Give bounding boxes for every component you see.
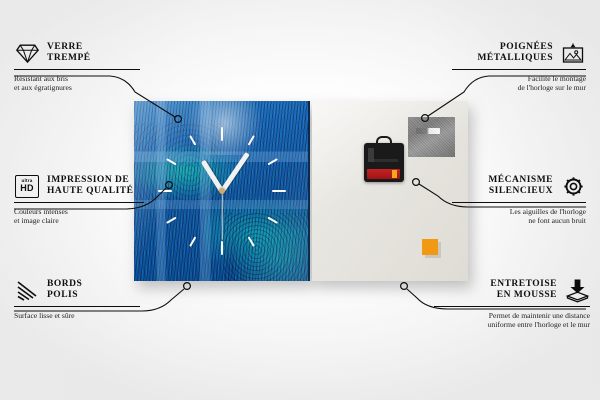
callout-subtitle: Facilite le montage de l'horloge sur le …	[452, 74, 586, 93]
clock-tick-mark	[221, 241, 223, 255]
callout-title: ENTRETOISE EN MOUSSE	[434, 279, 557, 302]
callout-divider	[14, 69, 140, 70]
callout-title: BORDS POLIS	[47, 279, 140, 302]
callout-title: MÉCANISME SILENCIEUX	[452, 175, 553, 198]
callout-bords-polis[interactable]: BORDS POLIS Surface lisse et sûre	[14, 277, 140, 320]
clock-back-panel	[312, 101, 468, 281]
picture-frame-hanging-icon	[560, 40, 586, 66]
clock-tick-mark	[221, 127, 223, 141]
callout-subtitle: Couleurs intenses et image claire	[14, 207, 144, 226]
callout-subtitle: Permet de maintenir une distance uniform…	[434, 311, 590, 330]
callout-divider	[434, 306, 590, 307]
clock-tick-mark	[272, 190, 286, 192]
ultra-hd-icon-main-text: HD	[20, 184, 33, 193]
callout-entretoise-en-mousse[interactable]: ENTRETOISE EN MOUSSE Permet de maintenir…	[434, 277, 590, 330]
callout-subtitle: Surface lisse et sûre	[14, 311, 140, 321]
clock-front-face	[134, 101, 310, 281]
callout-title: POIGNÉES MÉTALLIQUES	[452, 42, 553, 65]
callout-divider	[14, 306, 140, 307]
callout-title: IMPRESSION DE HAUTE QUALITÉ	[47, 175, 144, 198]
product-image	[134, 101, 468, 281]
clock-second-hand	[221, 192, 222, 240]
callout-title: VERRE TREMPÉ	[47, 42, 140, 65]
callout-divider	[14, 202, 144, 203]
gear-icon	[560, 173, 586, 199]
clock-mechanism-part	[364, 143, 404, 182]
callout-subtitle: Les aiguilles de l'horloge ne font aucun…	[452, 207, 586, 226]
callout-verre-trempe[interactable]: VERRE TREMPÉ Résistant aux bris et aux é…	[14, 40, 140, 93]
ultra-hd-icon: ultra HD	[14, 173, 40, 199]
callout-divider	[452, 69, 586, 70]
battery-part	[367, 169, 400, 179]
callout-impression-haute-qualite[interactable]: ultra HD IMPRESSION DE HAUTE QUALITÉ Cou…	[14, 173, 144, 226]
callout-subtitle: Résistant aux bris et aux égratignures	[14, 74, 140, 93]
foam-spacer-part	[422, 239, 438, 255]
clock-tick-mark	[158, 190, 172, 192]
polished-edges-icon	[14, 277, 40, 303]
callout-poignees-metalliques[interactable]: POIGNÉES MÉTALLIQUES Facilite le montage…	[452, 40, 586, 93]
callout-mecanisme-silencieux[interactable]: MÉCANISME SILENCIEUX Les aiguilles de l'…	[452, 173, 586, 226]
callout-divider	[452, 202, 586, 203]
foam-spacer-arrow-icon	[564, 277, 590, 303]
clock-center-cap	[219, 188, 225, 194]
diamond-icon	[14, 40, 40, 66]
metal-hanger-part	[408, 117, 455, 157]
